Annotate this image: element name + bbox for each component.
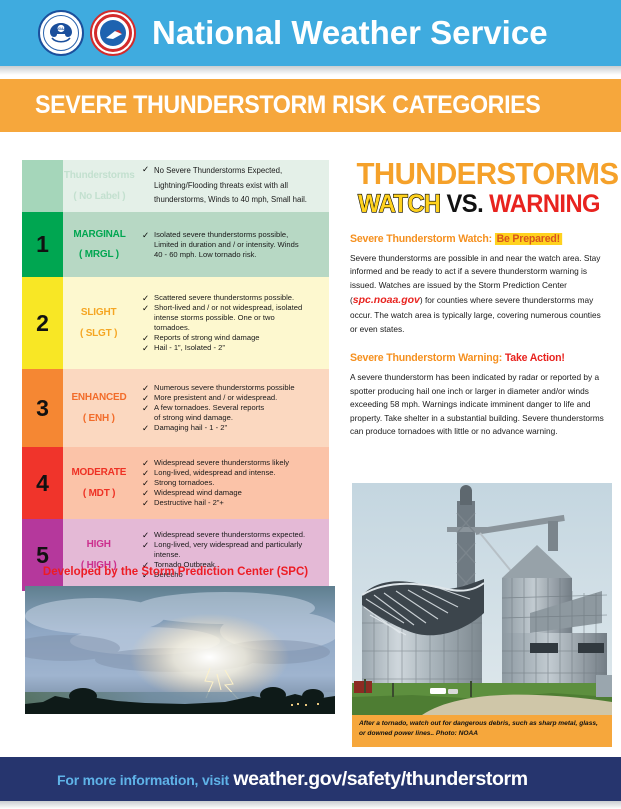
watch-section-body: Severe thunderstorms are possible in and… (350, 252, 608, 336)
watch-section-label: Severe Thunderstorm Watch: (350, 233, 492, 245)
risk-level-label: HIGH( HIGH ) (63, 519, 135, 591)
risk-bullet: ✓Long-lived, very widespread and particu… (142, 540, 323, 550)
footer-url[interactable]: weather.gov/safety/thunderstorm (233, 768, 527, 790)
page-title: SEVERE THUNDERSTORM RISK CATEGORIES (35, 91, 540, 120)
risk-bullet-text: Isolated severe thunderstorms possible, (154, 230, 323, 240)
risk-level-abbr: ( No Label ) (73, 191, 125, 202)
risk-row: 1MARGINAL( MRGL )✓Isolated severe thunde… (22, 212, 329, 277)
risk-bullet: ✓Widespread wind damage (142, 488, 323, 498)
risk-bullet-text: Widespread wind damage (154, 488, 323, 498)
warning-section-highlight: Take Action! (505, 352, 565, 364)
risk-bullet-text: Hail - 1”, Isolated - 2” (154, 343, 323, 353)
check-icon: ✓ (142, 343, 152, 353)
risk-bullet: ✓Damaging hail - 1 - 2” (142, 423, 323, 433)
risk-level-abbr: ( MDT ) (83, 488, 115, 499)
risk-bullet: Lightning/Flooding threats exist with al… (142, 179, 323, 193)
risk-level-description: ✓No Severe Thunderstorms Expected,Lightn… (135, 160, 329, 212)
check-icon: ✓ (142, 230, 152, 240)
check-icon: ✓ (142, 530, 152, 540)
watch-vs-warning-heading: WATCH VS. WARNING (356, 192, 601, 217)
risk-bullet: intense. (142, 550, 323, 560)
risk-row: 2SLIGHT( SLGT )✓Scattered severe thunder… (22, 277, 329, 369)
site-title: National Weather Service (152, 14, 548, 52)
risk-level-number: 1 (22, 212, 63, 277)
risk-level-abbr: ( SLGT ) (80, 328, 117, 339)
risk-row: 4MODERATE( MDT )✓Widespread severe thund… (22, 447, 329, 519)
risk-level-name: Thunderstorms (64, 170, 135, 181)
risk-bullet: 40 - 60 mph. Low tornado risk. (142, 250, 323, 260)
watch-section-heading: Severe Thunderstorm Watch: Be Prepared! (350, 233, 598, 245)
noaa-bird-glyph: NOAA (47, 21, 75, 45)
risk-bullet: ✓Short-lived and / or not widespread, is… (142, 303, 323, 313)
storm-photo-art (25, 586, 335, 714)
risk-bullet-text: Damaging hail - 1 - 2” (154, 423, 323, 433)
risk-level-label: SLIGHT( SLGT ) (63, 277, 135, 369)
risk-bullet: ✓A few tornadoes. Several reports (142, 403, 323, 413)
risk-bullet-text: A few tornadoes. Several reports (154, 403, 323, 413)
risk-level-description: ✓Widespread severe thunderstorms likely✓… (135, 447, 329, 519)
check-icon: ✓ (142, 458, 152, 468)
risk-bullet: ✓Scattered severe thunderstorms possible… (142, 293, 323, 303)
footer-band: For more information, visit weather.gov/… (0, 757, 621, 801)
risk-bullet: Limited in duration and / or intensity. … (142, 240, 323, 250)
risk-bullet-text: Long-lived, very widespread and particul… (154, 540, 323, 550)
risk-bullet: ✓Isolated severe thunderstorms possible, (142, 230, 323, 240)
risk-level-number: 5 (22, 519, 63, 591)
risk-bullet-text: of strong wind damage. (154, 413, 323, 423)
risk-level-label: MARGINAL( MRGL ) (63, 212, 135, 277)
risk-level-name: HIGH (87, 539, 111, 550)
risk-bullet: ✓Long-lived, widespread and intense. (142, 468, 323, 478)
risk-bullet-text: Widespread severe thunderstorms likely (154, 458, 323, 468)
risk-bullet: ✓Destructive hail - 2”+ (142, 498, 323, 508)
risk-level-name: SLIGHT (81, 307, 116, 318)
risk-bullet-text: 40 - 60 mph. Low tornado risk. (154, 250, 323, 260)
risk-row: Thunderstorms( No Label )✓No Severe Thun… (22, 160, 329, 212)
svg-text:NOAA: NOAA (56, 27, 66, 31)
warning-section-heading: Severe Thunderstorm Warning: Take Action… (350, 352, 598, 364)
risk-bullet-text: Numerous severe thunderstorms possible (154, 383, 323, 393)
risk-level-description: ✓Scattered severe thunderstorms possible… (135, 277, 329, 369)
lightning-storm-photo (25, 586, 335, 714)
risk-bullet-text: intense storms possible. One or two (154, 313, 323, 323)
risk-level-name: ENHANCED (71, 392, 126, 403)
noaa-seal-icon: NOAA (38, 10, 84, 56)
risk-level-name: MARGINAL (73, 229, 125, 240)
nws-arrow-glyph (105, 30, 123, 40)
thunderstorms-heading: THUNDERSTORMS (356, 158, 601, 189)
risk-row: 3ENHANCED( ENH )✓Numerous severe thunder… (22, 369, 329, 447)
risk-level-number (22, 160, 63, 212)
page-title-band: SEVERE THUNDERSTORM RISK CATEGORIES (0, 79, 621, 132)
risk-bullet-text: thunderstorms, Winds to 40 mph, Small ha… (154, 193, 323, 207)
risk-bullet: tornadoes. (142, 323, 323, 333)
watch-section-highlight: Be Prepared! (495, 233, 562, 245)
silo-photo-art (352, 483, 612, 715)
risk-bullet: ✓Widespread severe thunderstorms expecte… (142, 530, 323, 540)
risk-bullet-text: Lightning/Flooding threats exist with al… (154, 179, 323, 193)
risk-bullet: ✓Numerous severe thunderstorms possible (142, 383, 323, 393)
risk-bullet: ✓No Severe Thunderstorms Expected, (142, 164, 323, 178)
check-icon: ✓ (142, 403, 152, 413)
footer-divider (0, 801, 621, 809)
risk-bullet-text: Limited in duration and / or intensity. … (154, 240, 323, 250)
watch-vs-warning-panel: THUNDERSTORMS WATCH VS. WARNING Severe T… (350, 158, 608, 438)
nws-seal-icon (90, 10, 136, 56)
check-icon: ✓ (142, 303, 152, 313)
risk-level-number: 4 (22, 447, 63, 519)
risk-bullet: ✓More presistent and / or widespread. (142, 393, 323, 403)
risk-level-description: ✓Widespread severe thunderstorms expecte… (135, 519, 329, 591)
risk-level-description: ✓Isolated severe thunderstorms possible,… (135, 212, 329, 277)
risk-level-label: ENHANCED( ENH ) (63, 369, 135, 447)
risk-bullet-text: No Severe Thunderstorms Expected, (154, 164, 323, 178)
risk-level-abbr: ( MRGL ) (79, 249, 119, 260)
damaged-grain-silo-photo (352, 483, 612, 715)
risk-bullet-text: Widespread severe thunderstorms expected… (154, 530, 323, 540)
risk-bullet-text: intense. (154, 550, 323, 560)
risk-level-description: ✓Numerous severe thunderstorms possible✓… (135, 369, 329, 447)
risk-level-name: MODERATE (72, 467, 127, 478)
logo-group: NOAA (38, 10, 136, 56)
site-header: NOAA National Weather Service (0, 0, 621, 66)
risk-bullet-text: Long-lived, widespread and intense. (154, 468, 323, 478)
risk-bullet: intense storms possible. One or two (142, 313, 323, 323)
risk-level-label: Thunderstorms( No Label ) (63, 160, 135, 212)
risk-bullet: thunderstorms, Winds to 40 mph, Small ha… (142, 193, 323, 207)
risk-bullet-text: Strong tornadoes. (154, 478, 323, 488)
risk-category-table: Thunderstorms( No Label )✓No Severe Thun… (22, 160, 329, 591)
risk-bullet: of strong wind damage. (142, 413, 323, 423)
risk-row: 5HIGH( HIGH )✓Widespread severe thunders… (22, 519, 329, 591)
risk-level-abbr: ( ENH ) (83, 413, 115, 424)
risk-bullet-text: More presistent and / or widespread. (154, 393, 323, 403)
warning-section-body: A severe thunderstorm has been indicated… (350, 371, 608, 438)
check-icon: ✓ (142, 488, 152, 498)
risk-level-label: MODERATE( MDT ) (63, 447, 135, 519)
check-icon: ✓ (142, 423, 152, 433)
check-icon: ✓ (142, 478, 152, 488)
risk-bullet-text: tornadoes. (154, 323, 323, 333)
check-icon: ✓ (142, 393, 152, 403)
risk-bullet: ✓Reports of strong wind damage (142, 333, 323, 343)
risk-bullet: ✓Hail - 1”, Isolated - 2” (142, 343, 323, 353)
check-icon: ✓ (142, 164, 152, 174)
footer-prefix: For more information, visit (57, 772, 229, 788)
spc-credit: Developed by the Storm Prediction Center… (22, 566, 329, 578)
header-divider (0, 66, 621, 75)
photo-caption: After a tornado, watch out for dangerous… (352, 715, 612, 747)
warning-word: WARNING (489, 190, 600, 218)
risk-bullet-text: Reports of strong wind damage (154, 333, 323, 343)
warning-section-label: Severe Thunderstorm Warning: (350, 352, 502, 364)
risk-level-number: 2 (22, 277, 63, 369)
risk-bullet: ✓Strong tornadoes. (142, 478, 323, 488)
check-icon: ✓ (142, 498, 152, 508)
check-icon: ✓ (142, 333, 152, 343)
risk-bullet-text: Destructive hail - 2”+ (154, 498, 323, 508)
risk-bullet-text: Scattered severe thunderstorms possible. (154, 293, 323, 303)
risk-level-number: 3 (22, 369, 63, 447)
spc-link[interactable]: spc.noaa.gov (353, 294, 420, 306)
check-icon: ✓ (142, 540, 152, 550)
check-icon: ✓ (142, 383, 152, 393)
risk-bullet-text: Short-lived and / or not widespread, iso… (154, 303, 323, 313)
vs-word: VS. (447, 190, 484, 218)
check-icon: ✓ (142, 293, 152, 303)
check-icon: ✓ (142, 468, 152, 478)
footer-content: For more information, visit weather.gov/… (57, 768, 528, 791)
risk-bullet: ✓Widespread severe thunderstorms likely (142, 458, 323, 468)
watch-word: WATCH (358, 190, 440, 218)
